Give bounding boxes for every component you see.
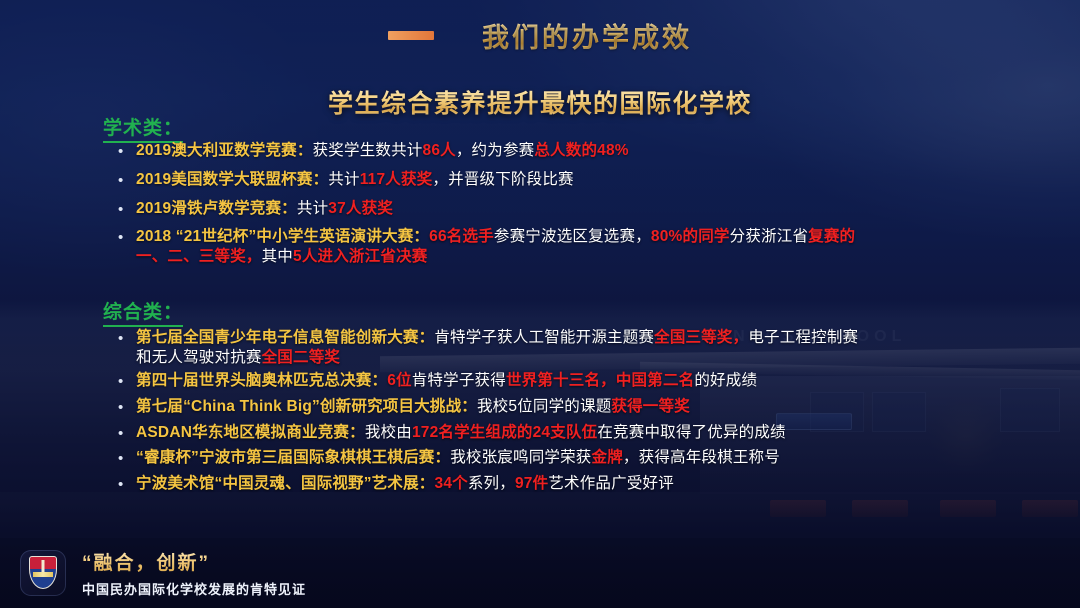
bullet-item: •2019滑铁卢数学竞赛：共计37人获奖 <box>118 199 855 221</box>
text-run-white: 肯特学子获人工智能开源主题赛 <box>434 329 654 346</box>
bullet-text-line: 和无人驾驶对抗赛全国二等奖 <box>136 348 858 368</box>
footer-slogan: “融合，创新” <box>82 548 306 575</box>
text-run-gold: 2019滑铁卢数学竞赛： <box>136 200 297 217</box>
text-run-white: 获奖学生数共计 <box>313 142 423 159</box>
bullet-item: •第七届“China Think Big”创新研究项目大挑战：我校5位同学的课题… <box>118 397 858 419</box>
text-run-white: 我校5位同学的课题 <box>477 398 611 415</box>
text-run-gold: 2019澳大利亚数学竞赛： <box>136 142 313 159</box>
bullet-text-line: 一、二、三等奖，其中5人进入浙江省决赛 <box>136 247 855 267</box>
bullet-dot-icon: • <box>118 448 136 470</box>
bullet-dot-icon: • <box>118 141 136 163</box>
text-run-red: 172名学生组成的24支队伍 <box>412 424 597 441</box>
page-title: 我们的办学成效 <box>482 16 692 55</box>
text-run-gold: 2019美国数学大联盟杯赛： <box>136 171 328 188</box>
bullet-dot-icon: • <box>118 170 136 192</box>
text-run-gold: ASDAN华东地区模拟商业竞赛： <box>136 424 365 441</box>
text-run-white: 电子工程控制赛 <box>748 329 858 346</box>
text-run-white: ，约为参赛 <box>456 142 535 159</box>
text-run-white: 艺术作品广受好评 <box>548 475 674 492</box>
bullet-text: 2019美国数学大联盟杯赛：共计117人获奖，并晋级下阶段比赛 <box>136 170 855 190</box>
bullet-text: ASDAN华东地区模拟商业竞赛：我校由172名学生组成的24支队伍在竞赛中取得了… <box>136 423 858 443</box>
bullet-dot-icon: • <box>118 423 136 445</box>
bullet-text-line: 2019美国数学大联盟杯赛：共计117人获奖，并晋级下阶段比赛 <box>136 170 855 190</box>
footer-tagline: 中国民办国际化学校发展的肯特见证 <box>82 579 306 598</box>
text-run-white: 共计 <box>297 200 328 217</box>
bullet-text: “睿康杯”宁波市第三届国际象棋棋王棋后赛：我校张宸鸣同学荣获金牌，获得高年段棋王… <box>136 448 858 468</box>
text-run-red: 6位 <box>387 372 412 389</box>
text-run-red: 86人 <box>423 142 456 159</box>
bullet-item: •宁波美术馆“中国灵魂、国际视野”艺术展：34个系列，97件艺术作品广受好评 <box>118 474 858 496</box>
bullet-text-line: 2018 “21世纪杯”中小学生英语演讲大赛：66名选手参赛宁波选区复选赛，80… <box>136 227 855 247</box>
bullet-text-line: “睿康杯”宁波市第三届国际象棋棋王棋后赛：我校张宸鸣同学荣获金牌，获得高年段棋王… <box>136 448 858 468</box>
bullet-item: •2019美国数学大联盟杯赛：共计117人获奖，并晋级下阶段比赛 <box>118 170 855 192</box>
bullet-text-line: ASDAN华东地区模拟商业竞赛：我校由172名学生组成的24支队伍在竞赛中取得了… <box>136 423 858 443</box>
bullet-text-line: 第四十届世界头脑奥林匹克总决赛：6位肯特学子获得世界第十三名，中国第二名的好成绩 <box>136 371 858 391</box>
bullet-dot-icon: • <box>118 397 136 419</box>
text-run-red: 获得一等奖 <box>611 398 690 415</box>
text-run-red: 世界第十三名，中国第二名 <box>506 372 694 389</box>
section-label-academic: 学术类： <box>103 113 183 143</box>
bullet-text: 第四十届世界头脑奥林匹克总决赛：6位肯特学子获得世界第十三名，中国第二名的好成绩 <box>136 371 858 391</box>
school-crest-icon <box>20 550 66 596</box>
text-run-white: 其中 <box>262 248 293 265</box>
bullet-text-line: 第七届全国青少年电子信息智能创新大赛：肯特学子获人工智能开源主题赛全国三等奖，电… <box>136 328 858 348</box>
bullet-text-line: 2019滑铁卢数学竞赛：共计37人获奖 <box>136 199 855 219</box>
bullet-dot-icon: • <box>118 328 136 350</box>
bullet-item: •第七届全国青少年电子信息智能创新大赛：肯特学子获人工智能开源主题赛全国三等奖，… <box>118 328 858 367</box>
bullet-item: •2019澳大利亚数学竞赛：获奖学生数共计86人，约为参赛总人数的48% <box>118 141 855 163</box>
bullet-text: 第七届“China Think Big”创新研究项目大挑战：我校5位同学的课题获… <box>136 397 858 417</box>
bullet-dot-icon: • <box>118 227 136 249</box>
bullet-dot-icon: • <box>118 371 136 393</box>
bullet-text: 2018 “21世纪杯”中小学生英语演讲大赛：66名选手参赛宁波选区复选赛，80… <box>136 227 855 266</box>
bullet-text-line: 宁波美术馆“中国灵魂、国际视野”艺术展：34个系列，97件艺术作品广受好评 <box>136 474 858 494</box>
text-run-red: 117人获奖 <box>360 171 433 188</box>
text-run-white: 分获浙江省 <box>730 228 809 245</box>
bullet-text-line: 2019澳大利亚数学竞赛：获奖学生数共计86人，约为参赛总人数的48% <box>136 141 855 161</box>
text-run-red: 复赛的 <box>808 228 855 245</box>
text-run-white: 在竞赛中取得了优异的成绩 <box>597 424 785 441</box>
text-run-gold: 第四十届世界头脑奥林匹克总决赛： <box>136 372 387 389</box>
text-run-white: 我校由 <box>365 424 412 441</box>
bullet-list-general: •第七届全国青少年电子信息智能创新大赛：肯特学子获人工智能开源主题赛全国三等奖，… <box>118 328 858 500</box>
text-run-red: 97件 <box>515 475 548 492</box>
section-label-general: 综合类： <box>103 297 183 327</box>
text-run-red: 5人进入浙江省决赛 <box>293 248 427 265</box>
bullet-list-academic: •2019澳大利亚数学竞赛：获奖学生数共计86人，约为参赛总人数的48%•201… <box>118 141 855 273</box>
orange-dash-icon <box>388 31 434 40</box>
slide-footer: “融合，创新” 中国民办国际化学校发展的肯特见证 <box>0 538 1080 608</box>
bullet-item: •2018 “21世纪杯”中小学生英语演讲大赛：66名选手参赛宁波选区复选赛，8… <box>118 227 855 266</box>
bullet-text: 2019滑铁卢数学竞赛：共计37人获奖 <box>136 199 855 219</box>
text-run-red: 总人数的48% <box>534 142 628 159</box>
text-run-white: 我校张宸鸣同学荣获 <box>450 449 591 466</box>
text-run-white: 的好成绩 <box>694 372 757 389</box>
bullet-item: •“睿康杯”宁波市第三届国际象棋棋王棋后赛：我校张宸鸣同学荣获金牌，获得高年段棋… <box>118 448 858 470</box>
text-run-red: 全国二等奖 <box>262 349 341 366</box>
bullet-text: 2019澳大利亚数学竞赛：获奖学生数共计86人，约为参赛总人数的48% <box>136 141 855 161</box>
text-run-red: 37人获奖 <box>328 200 393 217</box>
text-run-red: 34个 <box>435 475 468 492</box>
text-run-red: 66名选手 <box>429 228 494 245</box>
text-run-red: 全国三等奖， <box>654 329 748 346</box>
bullet-item: •ASDAN华东地区模拟商业竞赛：我校由172名学生组成的24支队伍在竞赛中取得… <box>118 423 858 445</box>
text-run-gold: 宁波美术馆“中国灵魂、国际视野”艺术展： <box>136 475 435 492</box>
text-run-gold: “睿康杯”宁波市第三届国际象棋棋王棋后赛： <box>136 449 450 466</box>
text-run-white: ，并晋级下阶段比赛 <box>432 171 573 188</box>
text-run-gold: 第七届全国青少年电子信息智能创新大赛： <box>136 329 434 346</box>
text-run-white: 系列， <box>468 475 515 492</box>
text-run-white: 共计 <box>328 171 359 188</box>
text-run-red: 金牌 <box>592 449 623 466</box>
text-run-red: 80%的同学 <box>651 228 730 245</box>
bullet-dot-icon: • <box>118 474 136 496</box>
slide-header: 我们的办学成效 <box>0 16 1080 55</box>
text-run-white: 参赛宁波选区复选赛， <box>494 228 651 245</box>
slide-root: HANVOS SCHOOL 我们的办学成效 学生综合素养提升最快的国际化学校 学… <box>0 0 1080 608</box>
bullet-item: •第四十届世界头脑奥林匹克总决赛：6位肯特学子获得世界第十三名，中国第二名的好成… <box>118 371 858 393</box>
text-run-red: 一、二、三等奖， <box>136 248 262 265</box>
footer-text-block: “融合，创新” 中国民办国际化学校发展的肯特见证 <box>82 548 306 598</box>
crest-shield-shape <box>29 556 57 589</box>
bullet-text-line: 第七届“China Think Big”创新研究项目大挑战：我校5位同学的课题获… <box>136 397 858 417</box>
bullet-dot-icon: • <box>118 199 136 221</box>
text-run-white: 和无人驾驶对抗赛 <box>136 349 262 366</box>
text-run-gold: 第七届“China Think Big”创新研究项目大挑战： <box>136 398 477 415</box>
bullet-text: 宁波美术馆“中国灵魂、国际视野”艺术展：34个系列，97件艺术作品广受好评 <box>136 474 858 494</box>
text-run-white: ，获得高年段棋王称号 <box>623 449 780 466</box>
text-run-gold: 2018 “21世纪杯”中小学生英语演讲大赛： <box>136 228 429 245</box>
bullet-text: 第七届全国青少年电子信息智能创新大赛：肯特学子获人工智能开源主题赛全国三等奖，电… <box>136 328 858 367</box>
text-run-white: 肯特学子获得 <box>412 372 506 389</box>
